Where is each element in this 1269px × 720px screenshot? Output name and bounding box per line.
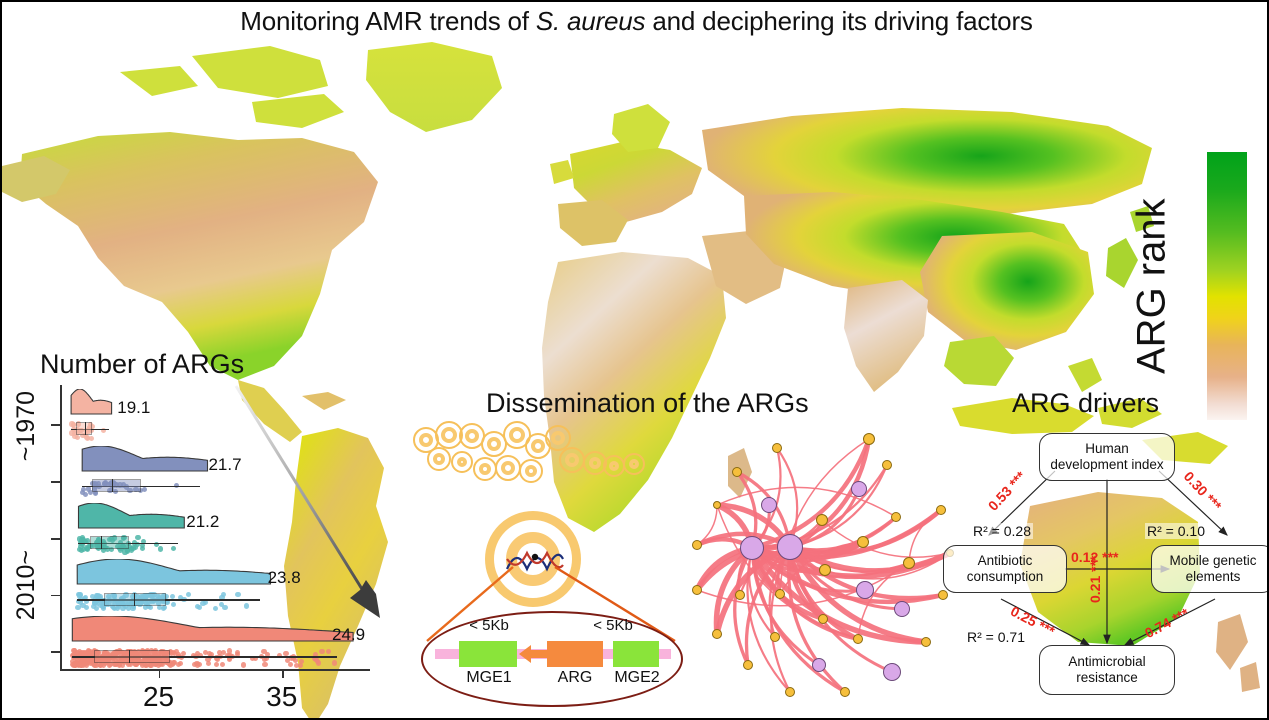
network-hub-node bbox=[851, 481, 867, 497]
network-hub-node bbox=[856, 581, 874, 599]
network-leaf-node bbox=[921, 637, 931, 647]
panel-title-dissemination: Dissemination of the ARGs bbox=[486, 388, 809, 419]
sem-path-diagram: Human development index Antibiotic consu… bbox=[947, 417, 1267, 707]
network-leaf-node bbox=[936, 505, 946, 515]
network-leaf-node bbox=[743, 660, 753, 670]
network-leaf-node bbox=[891, 512, 901, 522]
mge2-label: MGE2 bbox=[599, 669, 675, 687]
colorbar-gradient bbox=[1207, 152, 1247, 420]
box-median bbox=[85, 422, 86, 435]
data-point bbox=[122, 549, 127, 554]
network-hub-node bbox=[761, 497, 777, 513]
network-leaf-node bbox=[732, 467, 742, 477]
y-tick bbox=[51, 424, 60, 426]
data-point bbox=[262, 662, 267, 667]
x-tick bbox=[159, 669, 161, 678]
data-point bbox=[213, 606, 218, 611]
network-hub-node bbox=[883, 663, 901, 681]
y-tick bbox=[51, 595, 60, 597]
x-tick-label: 25 bbox=[143, 681, 174, 713]
kb-label-left: < 5Kb bbox=[449, 617, 529, 634]
sem-node-mge-label: Mobile genetic elements bbox=[1169, 553, 1256, 584]
data-point bbox=[89, 658, 94, 663]
network-leaf-node bbox=[772, 443, 782, 453]
data-point bbox=[171, 602, 176, 607]
network-leaf-node bbox=[840, 687, 850, 697]
sem-node-abx-label: Antibiotic consumption bbox=[967, 553, 1044, 584]
sem-r2-amr: R² = 0.71 bbox=[965, 629, 1027, 645]
colorbar-title: ARG rank bbox=[1132, 152, 1172, 420]
network-hub-node bbox=[894, 601, 910, 617]
sem-node-hdi: Human development index bbox=[1039, 433, 1175, 481]
title-post: and deciphering its driving factors bbox=[645, 6, 1032, 36]
arg-gene-block bbox=[547, 641, 603, 667]
y-tick bbox=[51, 538, 60, 540]
data-point bbox=[130, 605, 135, 610]
arg-rank-colorbar bbox=[1207, 152, 1247, 425]
data-point bbox=[288, 662, 293, 667]
data-point bbox=[200, 601, 205, 606]
kb-label-right: < 5Kb bbox=[573, 617, 653, 634]
data-point bbox=[69, 421, 74, 426]
box-median bbox=[134, 593, 135, 606]
figure-title: Monitoring AMR trends of S. aureus and d… bbox=[2, 6, 1269, 37]
data-point bbox=[79, 537, 84, 542]
data-point bbox=[215, 657, 220, 662]
data-point bbox=[283, 651, 288, 656]
mge1-gene-block bbox=[459, 641, 517, 667]
sem-node-amr-label: Antimicrobial resistance bbox=[1068, 654, 1145, 685]
network-leaf-node bbox=[818, 614, 828, 624]
sem-coef-hdi-amr: 0.21 *** bbox=[1087, 556, 1103, 603]
data-point bbox=[241, 662, 246, 667]
data-point bbox=[319, 649, 324, 654]
x-tick-label: 35 bbox=[266, 681, 297, 713]
box-iqr bbox=[92, 479, 141, 492]
data-point bbox=[195, 662, 200, 667]
data-point bbox=[221, 592, 226, 597]
network-leaf-node bbox=[770, 632, 780, 642]
gene-direction-arrow bbox=[519, 643, 547, 665]
network-leaf-node bbox=[713, 501, 721, 509]
network-hub-node bbox=[777, 534, 803, 560]
connector-arrow bbox=[232, 380, 402, 640]
data-point bbox=[93, 663, 98, 668]
title-pre: Monitoring AMR trends of bbox=[240, 6, 536, 36]
x-axis-line bbox=[60, 669, 370, 671]
panel-title-number-of-args: Number of ARGs bbox=[40, 349, 244, 380]
data-point bbox=[78, 544, 83, 549]
dissemination-diagram: < 5Kb < 5Kb MGE1 ARG MGE2 bbox=[407, 417, 707, 717]
sem-node-mobile-genetic-elements: Mobile genetic elements bbox=[1151, 545, 1269, 593]
network-leaf-node bbox=[735, 590, 745, 600]
network-leaf-node bbox=[816, 514, 828, 526]
box-iqr bbox=[90, 536, 129, 549]
data-point bbox=[186, 592, 191, 597]
y-tick bbox=[51, 481, 60, 483]
data-point bbox=[171, 546, 176, 551]
mge2-gene-block bbox=[613, 641, 659, 667]
network-leaf-node bbox=[863, 433, 875, 445]
y-tick bbox=[51, 651, 60, 653]
data-point bbox=[214, 662, 219, 667]
sem-r2-mge: R² = 0.10 bbox=[1145, 523, 1207, 539]
data-point bbox=[158, 546, 163, 551]
network-hub-node bbox=[740, 536, 764, 560]
data-point bbox=[115, 606, 120, 611]
data-point bbox=[75, 605, 80, 610]
data-point bbox=[84, 605, 89, 610]
title-species: S. aureus bbox=[536, 6, 646, 36]
data-point bbox=[206, 661, 211, 666]
data-point bbox=[298, 663, 303, 668]
network-leaf-node bbox=[903, 557, 915, 569]
box-median bbox=[101, 536, 102, 549]
x-tick bbox=[282, 669, 284, 678]
network-leaf-node bbox=[882, 460, 892, 470]
data-point bbox=[222, 605, 227, 610]
box-iqr bbox=[94, 650, 169, 663]
series-mean-label: 19.1 bbox=[117, 398, 150, 418]
network-leaf-node bbox=[785, 687, 795, 697]
series-mean-label: 21.2 bbox=[186, 512, 219, 532]
network-leaf-node bbox=[775, 589, 785, 599]
network-leaf-node bbox=[853, 634, 863, 644]
network-leaf-node bbox=[857, 536, 869, 548]
network-leaf-node bbox=[712, 629, 722, 639]
sem-r2-abx: R² = 0.28 bbox=[971, 523, 1033, 539]
box-median bbox=[129, 650, 130, 663]
sem-node-antibiotic-consumption: Antibiotic consumption bbox=[943, 545, 1067, 593]
network-hub-node bbox=[812, 658, 826, 672]
figure-canvas: Monitoring AMR trends of S. aureus and d… bbox=[0, 0, 1269, 720]
data-point bbox=[332, 660, 337, 665]
box-median bbox=[112, 479, 113, 492]
data-point bbox=[220, 662, 225, 667]
data-point bbox=[78, 662, 83, 667]
sem-node-antimicrobial-resistance: Antimicrobial resistance bbox=[1039, 645, 1175, 695]
network-leaf-node bbox=[819, 564, 831, 576]
sem-node-hdi-label: Human development index bbox=[1050, 441, 1163, 472]
data-point bbox=[326, 649, 331, 654]
mge1-label: MGE1 bbox=[451, 669, 527, 687]
